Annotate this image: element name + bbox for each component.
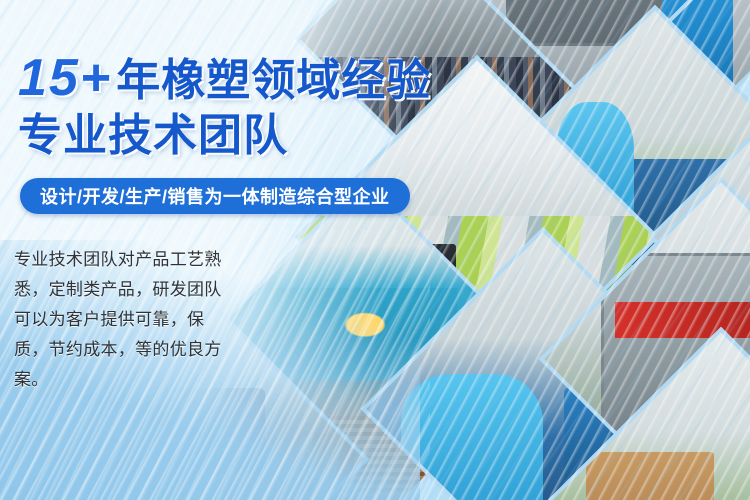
promo-banner: 15+年橡塑领域经验 专业技术团队 设计/开发/生产/销售为一体制造综合型企业 … <box>0 0 750 500</box>
banner-text-block: 15+年橡塑领域经验 专业技术团队 设计/开发/生产/销售为一体制造综合型企业 … <box>0 0 470 500</box>
headline-line-1-text: 年橡塑领域经验 <box>116 56 431 105</box>
tagline-pill: 设计/开发/生产/销售为一体制造综合型企业 <box>20 178 410 214</box>
headline-years-number: 15+ <box>18 49 112 107</box>
headline-line-2: 专业技术团队 <box>18 110 288 162</box>
headline-line-1: 15+年橡塑领域经验 <box>18 52 431 107</box>
description-paragraph: 专业技术团队对产品工艺熟悉，定制类产品，研发团队可以为客户提供可靠，保质，节约成… <box>14 245 226 395</box>
